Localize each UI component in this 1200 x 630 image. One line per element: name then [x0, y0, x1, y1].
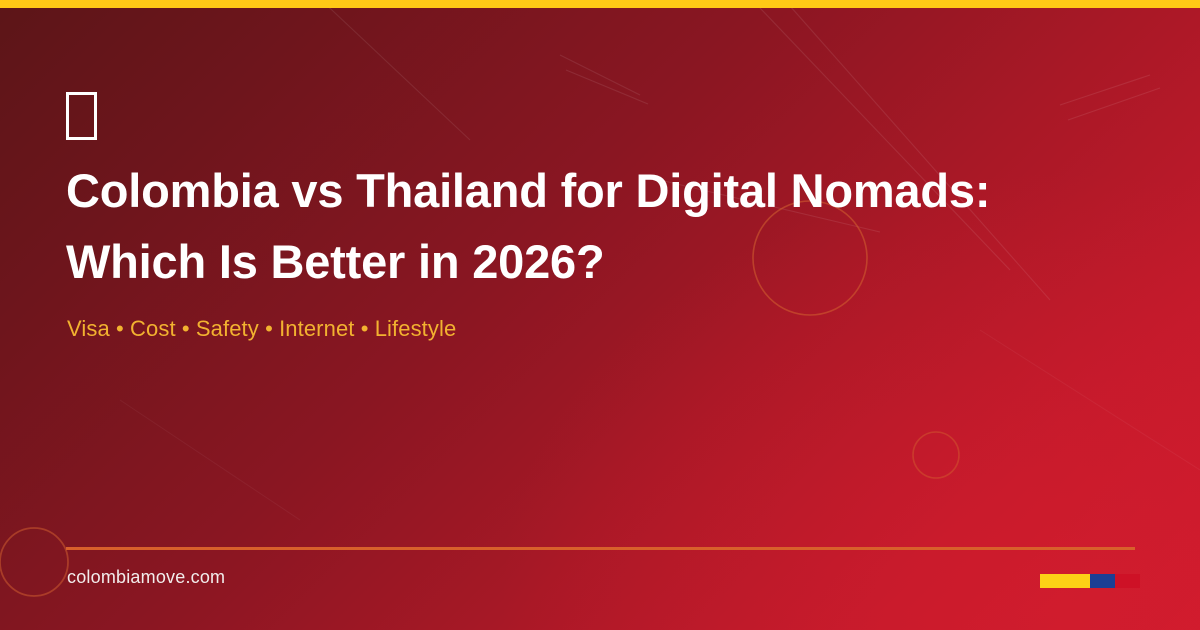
site-url: colombiamove.com — [67, 567, 225, 588]
subtitle-topics: Visa • Cost • Safety • Internet • Lifest… — [67, 316, 456, 342]
colombia-flag-icon — [1040, 574, 1140, 588]
og-card: Colombia vs Thailand for Digital Nomads:… — [0, 0, 1200, 630]
flag-stripe-red — [1115, 574, 1140, 588]
flag-stripe-yellow — [1040, 574, 1090, 588]
flag-stripe-blue — [1090, 574, 1115, 588]
footer-divider — [66, 547, 1135, 550]
missing-emoji-glyph-icon — [66, 92, 97, 140]
page-title: Colombia vs Thailand for Digital Nomads:… — [66, 156, 1076, 297]
background-glow — [0, 0, 1200, 630]
top-accent-bar — [0, 0, 1200, 8]
